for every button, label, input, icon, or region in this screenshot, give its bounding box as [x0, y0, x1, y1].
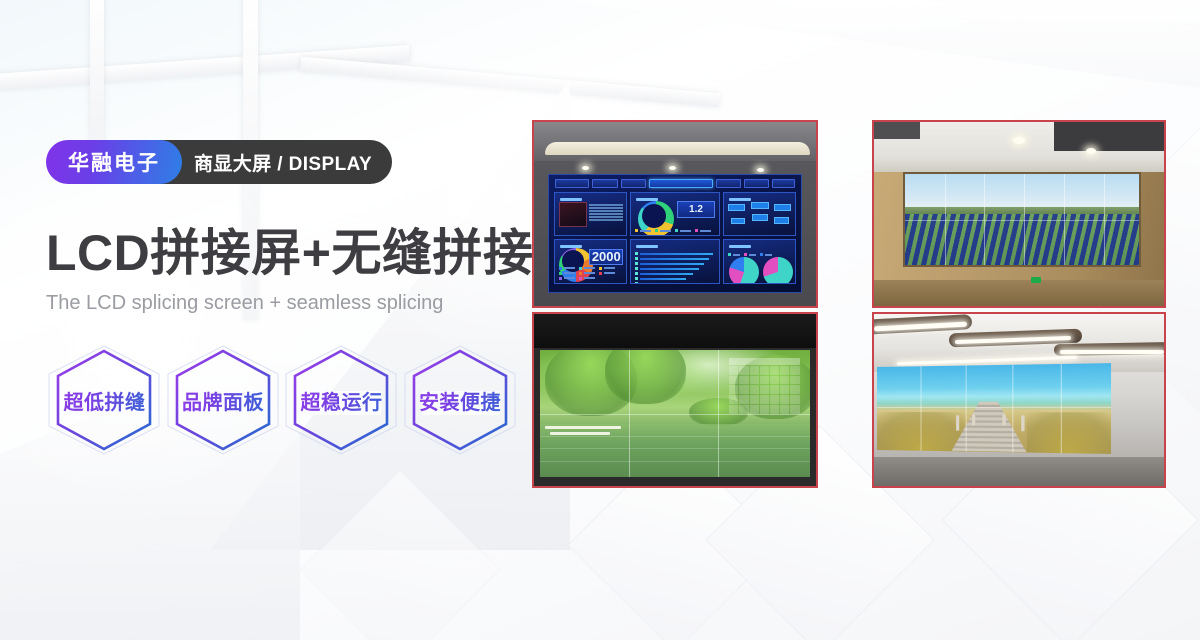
badge-row: 商显大屏 / DISPLAY 华融电子 — [46, 140, 516, 184]
screen-bezel — [540, 414, 811, 415]
pie-legend — [728, 253, 791, 256]
flow-node — [731, 218, 745, 224]
photo-control-room-dashboard: 1.2 — [532, 120, 818, 308]
dashboard-tab — [621, 179, 646, 188]
dashboard-tab — [744, 179, 769, 188]
donut-hole — [642, 204, 666, 228]
calendar-title — [729, 358, 799, 365]
photo-lobby-beach-video-wall — [872, 312, 1166, 488]
screen-calendar-overlay — [729, 358, 799, 414]
pie-chart-left — [729, 257, 759, 284]
flow-node — [751, 202, 769, 209]
page-subtitle: The LCD splicing screen + seamless splic… — [46, 292, 516, 315]
dashboard-card-donut-stat: 1.2 — [630, 192, 720, 236]
screen-railing-post — [1002, 415, 1005, 426]
metric-2000-panel: 2000 — [589, 249, 623, 265]
dashboard-user — [772, 179, 795, 188]
photo3-upper-bezel — [534, 314, 816, 348]
chart-legend — [635, 229, 715, 232]
dashboard-card-donut-2000: 2000 — [554, 239, 627, 283]
photo2-video-wall — [903, 172, 1141, 268]
feature-hex-2-label: 品牌面板 — [165, 345, 282, 455]
page-title: LCD拼接屏+无缝拼接 — [46, 226, 516, 280]
metric-value-panel: 1.2 — [677, 201, 716, 218]
feature-hex-3: 超稳运行 — [283, 345, 398, 455]
feature-hex-3-label: 超稳运行 — [283, 345, 400, 455]
photo-willow-pond-video-wall — [532, 312, 818, 488]
screen-railing-post — [956, 415, 959, 430]
chart-legend — [559, 267, 622, 280]
screen-ripple — [540, 436, 811, 437]
dashboard-title-bar — [649, 179, 713, 188]
photo2-downlight — [1013, 137, 1025, 144]
dashboard-row-top: 1.2 — [554, 192, 796, 236]
screen-bezel — [965, 366, 966, 452]
dashboard-tab — [716, 179, 741, 188]
flow-node — [728, 204, 745, 212]
photo4-light-strip — [1060, 350, 1164, 354]
screen-dune-grass-right — [1026, 412, 1110, 454]
calendar-grid — [729, 366, 799, 414]
screen-railing-post — [972, 415, 975, 426]
brand-badge: 华融电子 — [46, 140, 182, 184]
photo3-video-wall — [540, 350, 811, 477]
dashboard-timestamp — [555, 179, 589, 188]
photo4-video-wall — [877, 363, 1111, 453]
screen-ripple — [540, 461, 811, 462]
photo-corridor-solar-video-wall — [872, 120, 1166, 308]
dashboard-card-intro — [554, 192, 627, 236]
feature-hex-4: 安装便捷 — [402, 345, 517, 455]
screen-bezel — [1060, 364, 1061, 453]
feature-hex-1-label: 超低拼缝 — [46, 345, 163, 455]
photo1-spotlight — [757, 168, 764, 172]
pie-chart-right — [763, 257, 793, 284]
screen-bezel — [905, 220, 1139, 221]
dashboard-card-bar-ranking — [630, 239, 720, 283]
flow-node — [774, 217, 790, 224]
dashboard-grid: 1.2 — [552, 190, 798, 286]
photo2-floor — [874, 280, 1164, 306]
bar-list-chart — [635, 252, 715, 279]
flow-node — [752, 214, 768, 221]
dashboard-header — [552, 178, 798, 190]
dashboard-row-bottom: 2000 — [554, 239, 796, 283]
dashboard-tab — [592, 179, 617, 188]
screen-bezel — [920, 367, 921, 451]
photo2-downlight — [1086, 148, 1096, 154]
photo1-cove-light — [545, 142, 810, 155]
screen-ripple — [540, 448, 811, 449]
screen-willow-tree — [605, 350, 686, 403]
photo1-dashboard-screen: 1.2 — [548, 174, 802, 294]
banner-text-column: 商显大屏 / DISPLAY 华融电子 LCD拼接屏+无缝拼接 The LCD … — [46, 140, 516, 455]
feature-hex-1: 超低拼缝 — [46, 345, 161, 455]
screen-railing — [550, 432, 610, 435]
feature-hex-row: 超低拼缝 品牌面板 超稳运行 安装便捷 — [46, 345, 516, 455]
dashboard-card-pie-pair — [723, 239, 796, 283]
photo4-floor — [874, 457, 1164, 486]
feature-hex-2: 品牌面板 — [165, 345, 280, 455]
screen-railing-post — [1021, 416, 1024, 432]
photo2-ceiling-panel — [1054, 122, 1164, 151]
screen-bezel — [1012, 365, 1013, 452]
photo2-exit-sign — [1031, 277, 1041, 283]
photo2-ceiling-panel — [874, 122, 920, 139]
flow-node — [774, 204, 791, 212]
feature-hex-4-label: 安装便捷 — [402, 345, 519, 455]
dashboard-card-flow-diagram — [723, 192, 796, 236]
